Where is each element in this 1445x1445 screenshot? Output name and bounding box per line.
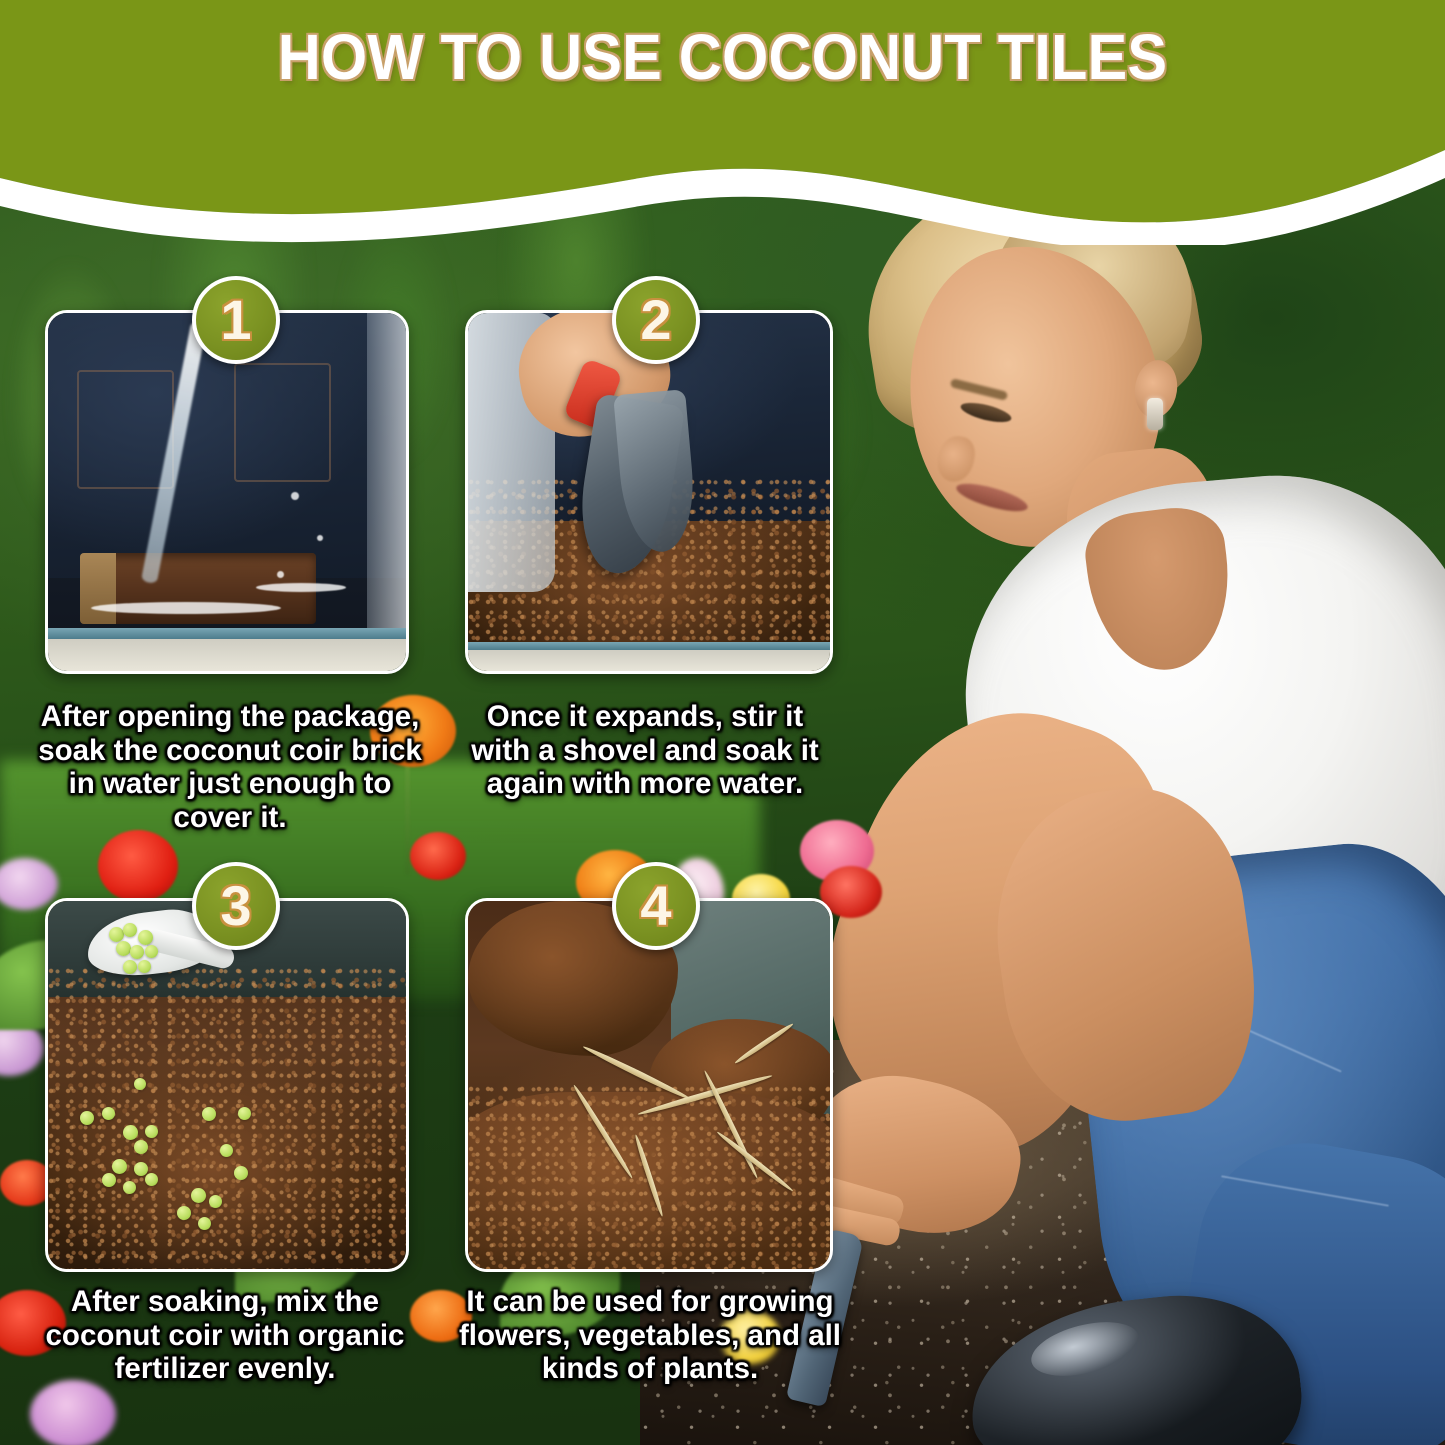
infographic-root: HOW TO USE COCONUT TILES 1 After opening…: [0, 0, 1445, 1445]
fertilizer-pellet: [112, 1159, 127, 1174]
water-droplet: [317, 535, 323, 541]
earring: [1147, 398, 1163, 430]
step-card-2[interactable]: [465, 310, 833, 674]
fertilizer-pellet: [102, 1107, 115, 1120]
step-card-3[interactable]: [45, 898, 409, 1272]
water-droplet: [277, 571, 284, 578]
step-caption-4: It can be used for growing flowers, vege…: [450, 1285, 850, 1386]
water-splash: [91, 602, 281, 614]
tub-rim: [468, 642, 830, 649]
fertilizer-pellet: [238, 1107, 251, 1120]
header-banner: HOW TO USE COCONUT TILES: [0, 0, 1445, 245]
fertilizer-pellet: [138, 930, 153, 945]
step4-photo: [468, 901, 830, 1269]
step-badge-1: 1: [192, 276, 280, 364]
denim-pocket: [77, 370, 174, 489]
tub-rim: [48, 628, 406, 639]
fertilizer-pellet: [234, 1166, 248, 1180]
fertilizer-pellet: [123, 960, 137, 974]
step-card-4[interactable]: [465, 898, 833, 1272]
step-badge-2: 2: [612, 276, 700, 364]
fertilizer-pellet: [109, 927, 124, 942]
page-title: HOW TO USE COCONUT TILES: [51, 20, 1395, 94]
step-badge-3: 3: [192, 862, 280, 950]
fertilizer-pellet: [145, 1173, 158, 1186]
fertilizer-pellet: [123, 1181, 136, 1194]
step-caption-2: Once it expands, stir it with a shovel a…: [455, 700, 835, 801]
tub-floor: [48, 639, 406, 671]
tub-floor: [468, 650, 830, 671]
gardener-figure: [790, 150, 1445, 1445]
step-caption-3: After soaking, mix the coconut coir with…: [25, 1285, 425, 1386]
step2-photo: [468, 313, 830, 671]
red-carnation: [98, 830, 178, 902]
pink-flower: [30, 1380, 116, 1445]
step-badge-4: 4: [612, 862, 700, 950]
fertilizer-pellet: [102, 1173, 116, 1187]
fertilizer-pellet: [220, 1144, 233, 1157]
fertilizer-pellet: [80, 1111, 94, 1125]
denim-pocket: [234, 363, 331, 482]
fertilizer-pellet: [145, 945, 158, 958]
tub-side-wall: [367, 313, 406, 642]
step-card-1[interactable]: [45, 310, 409, 674]
step1-photo: [48, 313, 406, 671]
fertilizer-pellet: [134, 1140, 148, 1154]
step-caption-1: After opening the package, soak the coco…: [30, 700, 430, 835]
coir-brick-end: [80, 553, 116, 625]
red-flower: [410, 832, 466, 880]
fertilizer-pellet: [202, 1107, 216, 1121]
coir-texture: [48, 967, 406, 1269]
fertilizer-pellet: [138, 960, 151, 973]
step3-photo: [48, 901, 406, 1269]
fertilizer-pellet: [134, 1078, 146, 1090]
